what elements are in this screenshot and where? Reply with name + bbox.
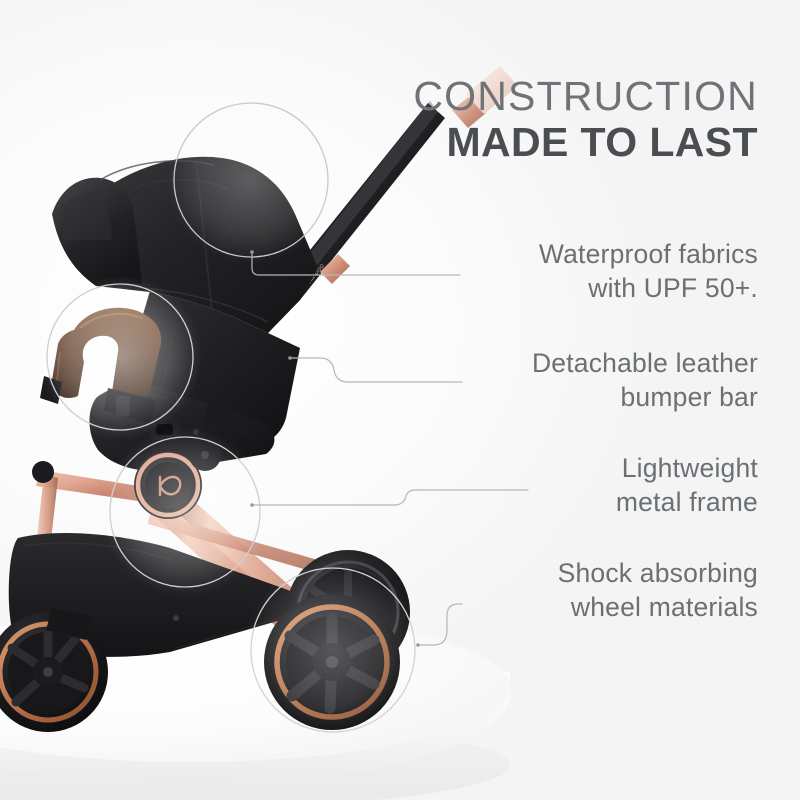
feature-detachable-leather-bumper-bar: Detachable leather bumper bar [532, 347, 758, 415]
headline-line-2: MADE TO LAST [413, 120, 758, 164]
feature-lightweight-metal-frame: Lightweight metal frame [616, 452, 758, 520]
feature-3-line-2: wheel materials [558, 591, 758, 625]
headline: CONSTRUCTION MADE TO LAST [413, 74, 758, 165]
feature-shock-absorbing-wheel-materials: Shock absorbing wheel materials [558, 557, 758, 625]
feature-0-line-2: with UPF 50+. [539, 272, 758, 306]
feature-0-line-1: Waterproof fabrics [539, 238, 758, 272]
front-wheel [264, 594, 400, 730]
infographic-canvas: kikka boo [0, 0, 800, 800]
feature-waterproof-fabrics: Waterproof fabrics with UPF 50+. [539, 238, 758, 306]
feature-1-line-2: bumper bar [532, 381, 758, 415]
feature-2-line-1: Lightweight [616, 452, 758, 486]
feature-1-line-1: Detachable leather [532, 347, 758, 381]
headline-line-1: CONSTRUCTION [413, 74, 758, 118]
feature-2-line-2: metal frame [616, 486, 758, 520]
feature-3-line-1: Shock absorbing [558, 557, 758, 591]
